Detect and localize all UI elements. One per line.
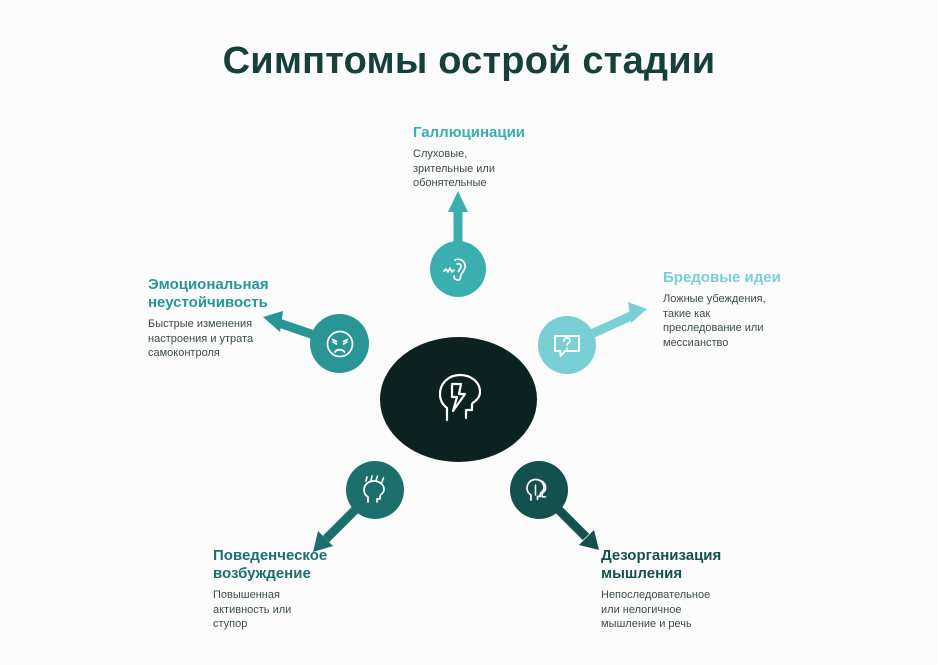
text-emotional-instability: Эмоциональная неустойчивость Быстрые изм… <box>148 276 288 361</box>
text-delusions: Бредовые идеи Ложные убеждения, такие ка… <box>663 269 813 350</box>
description-emotional-instability: Быстрые изменения настроения и утрата са… <box>148 317 288 361</box>
heading-hallucinations: Галлюцинации <box>413 124 593 142</box>
description-disorganized-thinking: Непоследовательное или нелогичное мышлен… <box>601 588 771 632</box>
center-node <box>380 337 537 462</box>
description-hallucinations: Слуховые, зрительные или обонятельные <box>413 147 593 191</box>
node-emotional-instability[interactable] <box>310 314 369 373</box>
text-hallucinations: Галлюцинации Слуховые, зрительные или об… <box>413 124 593 191</box>
double-head-icon <box>522 473 556 507</box>
speech-bubble-question-icon <box>550 328 584 362</box>
node-delusions[interactable] <box>538 316 596 374</box>
description-behavioral-agitation: Повышенная активность или ступор <box>213 588 378 632</box>
infographic-canvas: Симптомы острой стадии <box>0 0 938 665</box>
text-behavioral-agitation: Поведенческое возбуждение Повышенная акт… <box>213 547 378 632</box>
head-lightning-icon <box>427 368 491 432</box>
heading-disorganized-thinking: Дезорганизация мышления <box>601 547 771 583</box>
heading-emotional-instability: Эмоциональная неустойчивость <box>148 276 288 312</box>
sad-face-icon <box>323 327 357 361</box>
page-title: Симптомы острой стадии <box>0 40 938 83</box>
text-disorganized-thinking: Дезорганизация мышления Непоследовательн… <box>601 547 771 632</box>
ear-soundwave-icon <box>441 252 475 286</box>
node-disorganized-thinking[interactable] <box>510 461 568 519</box>
heading-behavioral-agitation: Поведенческое возбуждение <box>213 547 378 583</box>
node-behavioral-agitation[interactable] <box>346 461 404 519</box>
heading-delusions: Бредовые идеи <box>663 269 813 287</box>
node-hallucinations[interactable] <box>430 241 486 297</box>
head-sparks-icon <box>358 473 392 507</box>
description-delusions: Ложные убеждения, такие как преследовани… <box>663 292 813 350</box>
